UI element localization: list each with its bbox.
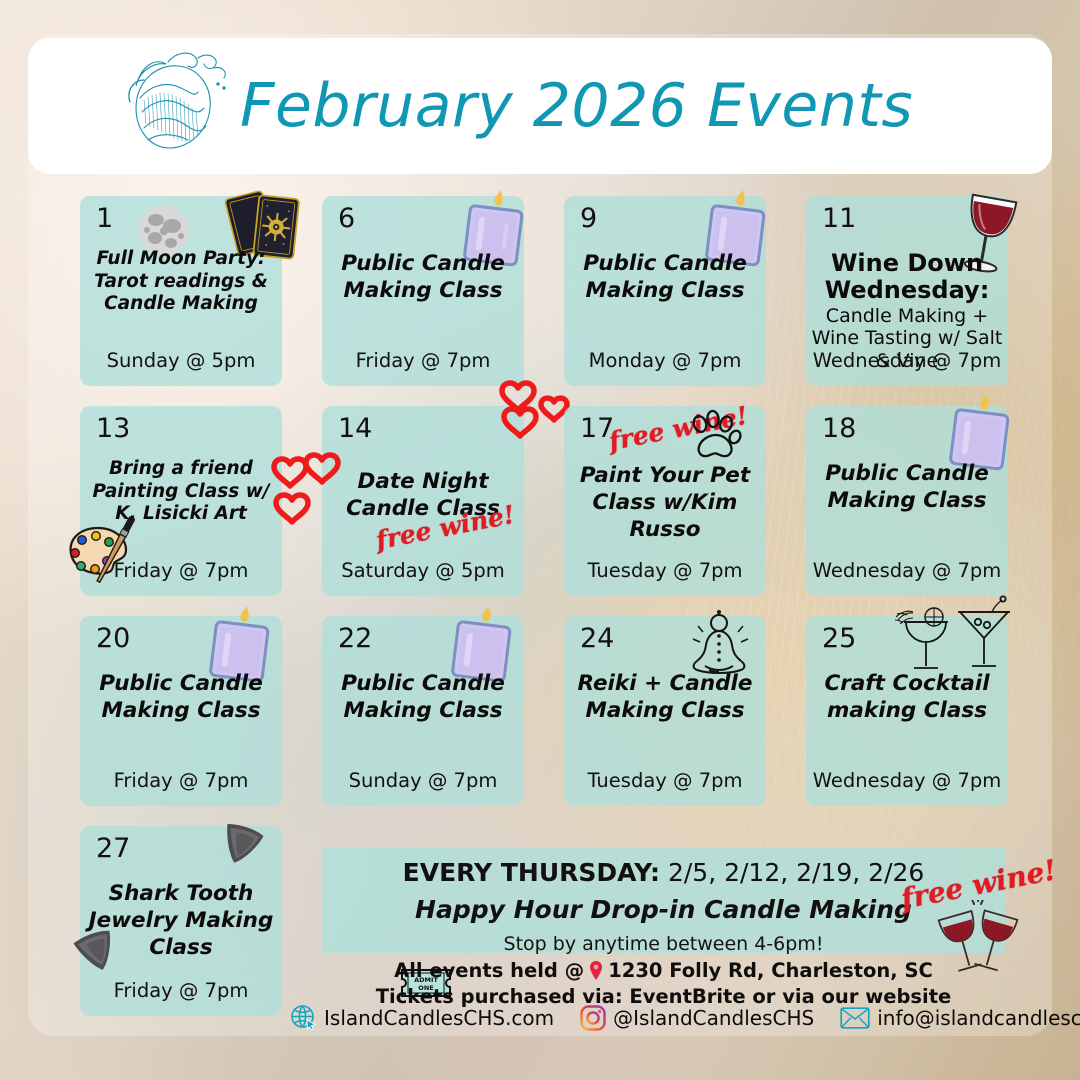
event-title-main: Wine Down Wednesday:: [810, 250, 1004, 304]
banner-dates: 2/5, 2/12, 2/19, 2/26: [660, 858, 924, 887]
day-number: 14: [338, 414, 372, 444]
venue-label: All events held @: [394, 958, 584, 984]
event-card-17[interactable]: 17 free wine! Paint Your Pet Class w/Kim…: [564, 406, 766, 596]
event-card-9[interactable]: 9 Public Candle Making Class Monday @ 7p…: [564, 196, 766, 386]
event-time: Sunday @ 5pm: [80, 349, 282, 372]
day-number: 25: [822, 624, 856, 654]
event-title: Full Moon Party: Tarot readings & Candle…: [84, 248, 278, 316]
event-time: Tuesday @ 7pm: [564, 769, 766, 792]
event-time: Wednesday @ 7pm: [806, 349, 1008, 372]
day-number: 9: [580, 204, 597, 234]
cheers-wine-glasses-icon: [930, 900, 1026, 984]
event-title: Craft Cocktail making Class: [810, 670, 1004, 724]
event-time: Friday @ 7pm: [322, 349, 524, 372]
day-number: 11: [822, 204, 856, 234]
event-title: Public Candle Making Class: [84, 670, 278, 724]
free-wine-note: free wine!: [607, 401, 750, 456]
day-number: 27: [96, 834, 130, 864]
day-number: 18: [822, 414, 856, 444]
envelope-icon: [840, 1007, 870, 1029]
event-time: Wednesday @ 7pm: [806, 559, 1008, 582]
event-time: Friday @ 7pm: [80, 769, 282, 792]
event-title: Public Candle Making Class: [568, 250, 762, 304]
instagram-label: @IslandCandlesCHS: [613, 1006, 814, 1030]
event-card-6[interactable]: 6 Public Candle Making Class Friday @ 7p…: [322, 196, 524, 386]
event-time: Friday @ 7pm: [80, 559, 282, 582]
instagram-link[interactable]: @IslandCandlesCHS: [580, 1005, 814, 1031]
venue-address: 1230 Folly Rd, Charleston, SC: [608, 958, 933, 984]
event-title: Public Candle Making Class: [810, 460, 1004, 514]
website-link[interactable]: IslandCandlesCHS.com: [290, 1004, 554, 1031]
event-title: Shark Tooth Jewelry Making Class: [84, 880, 278, 961]
event-time: Friday @ 7pm: [80, 979, 282, 1002]
calendar-row: 20 Public Candle Making Class Friday @ 7…: [80, 616, 1005, 806]
event-title: Public Candle Making Class: [326, 670, 520, 724]
event-card-1[interactable]: 1: [80, 196, 282, 386]
map-pin-icon: [588, 960, 604, 982]
day-number: 20: [96, 624, 130, 654]
day-number: 24: [580, 624, 614, 654]
event-title: Reiki + Candle Making Class: [568, 670, 762, 724]
shark-tooth-icon: [214, 822, 268, 874]
event-title: Public Candle Making Class: [326, 250, 520, 304]
day-number: 22: [338, 624, 372, 654]
header-bar: February 2026 Events: [28, 38, 1052, 174]
footer-info: All events held @ 1230 Folly Rd, Charles…: [322, 958, 1005, 1009]
event-time: Saturday @ 5pm: [322, 559, 524, 582]
event-card-24[interactable]: 24 Reiki +: [564, 616, 766, 806]
event-time: Monday @ 7pm: [564, 349, 766, 372]
event-card-11[interactable]: 11 Wine Down Wednesday: Candle Making + …: [806, 196, 1008, 386]
calendar-row: 1: [80, 196, 1005, 386]
day-number: 1: [96, 204, 113, 234]
website-label: IslandCandlesCHS.com: [324, 1006, 554, 1030]
event-card-14[interactable]: 14 Date Night Candle Class free wine! Sa…: [322, 406, 524, 596]
event-time: Tuesday @ 7pm: [564, 559, 766, 582]
event-card-18[interactable]: 18 Public Candle Making Class Wednesday …: [806, 406, 1008, 596]
event-time: Sunday @ 7pm: [322, 769, 524, 792]
island-candles-logo-icon: [106, 46, 234, 166]
instagram-icon: [580, 1005, 606, 1031]
day-number: 13: [96, 414, 130, 444]
event-card-20[interactable]: 20 Public Candle Making Class Friday @ 7…: [80, 616, 282, 806]
email-link[interactable]: info@islandcandleschs.com: [840, 1006, 1080, 1030]
page-title: February 2026 Events: [240, 71, 913, 141]
event-title: Bring a friend Painting Class w/ K. Lisi…: [84, 458, 278, 526]
calendar-row: 13 Bring a friend Painting Class w/ K. L…: [80, 406, 1005, 596]
event-card-13[interactable]: 13 Bring a friend Painting Class w/ K. L…: [80, 406, 282, 596]
banner-line-3: Stop by anytime between 4-6pm!: [322, 933, 1005, 955]
event-title: Paint Your Pet Class w/Kim Russo: [568, 462, 762, 543]
social-links: IslandCandlesCHS.com @IslandCandlesCHS i…: [290, 1004, 1042, 1031]
event-card-27[interactable]: 27 Shark Tooth Jewelry Making Class Frid…: [80, 826, 282, 1016]
event-card-25[interactable]: 25: [806, 616, 1008, 806]
email-label: info@islandcandleschs.com: [877, 1006, 1080, 1030]
venue-line: All events held @ 1230 Folly Rd, Charles…: [322, 958, 1005, 984]
event-time: Wednesday @ 7pm: [806, 769, 1008, 792]
event-card-22[interactable]: 22 Public Candle Making Class Sunday @ 7…: [322, 616, 524, 806]
banner-label: EVERY THURSDAY:: [403, 858, 660, 887]
globe-icon: [290, 1004, 317, 1031]
day-number: 6: [338, 204, 355, 234]
